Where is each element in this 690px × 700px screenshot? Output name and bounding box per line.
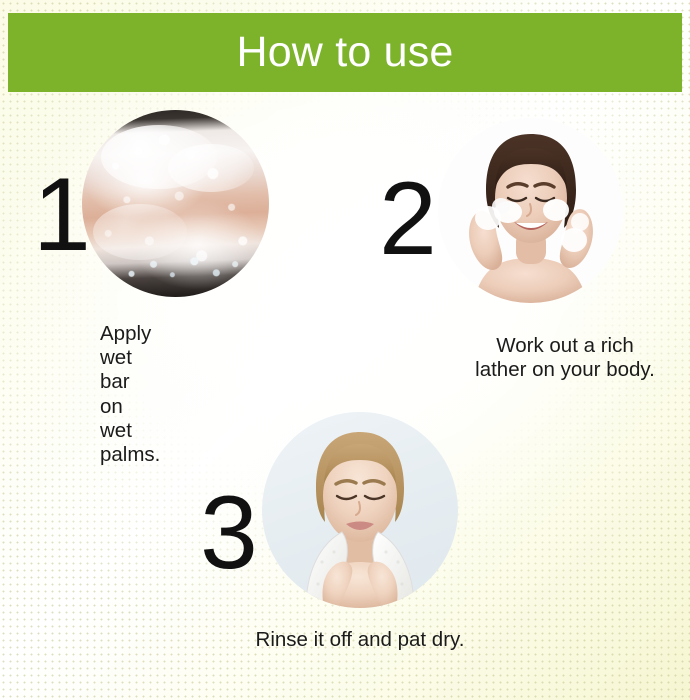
woman-lathering-face-illustration xyxy=(438,118,623,303)
page-title: How to use xyxy=(236,31,453,74)
step-caption-2: Work out a rich lather on your body. xyxy=(455,334,675,382)
soapy-hands-photo xyxy=(82,110,269,297)
step-image-2 xyxy=(438,118,623,303)
step-number-1: 1 xyxy=(33,163,89,267)
step-number-3: 3 xyxy=(200,481,256,585)
header-band: How to use xyxy=(8,13,682,92)
how-to-use-poster: How to use 1 Apply wet bar on wet palms.… xyxy=(0,0,690,700)
step-caption-1: Apply wet bar on wet palms. xyxy=(100,322,160,467)
step-number-2: 2 xyxy=(379,167,435,271)
woman-lathering-face-photo xyxy=(438,118,623,303)
step-caption-3: Rinse it off and pat dry. xyxy=(185,628,535,652)
water-droplets xyxy=(97,245,254,294)
step-image-1 xyxy=(82,110,269,297)
foam-mass-right xyxy=(168,144,254,193)
woman-towel-dry-illustration xyxy=(262,412,458,608)
step-image-3 xyxy=(262,412,458,608)
woman-towel-dry-photo xyxy=(262,412,458,608)
